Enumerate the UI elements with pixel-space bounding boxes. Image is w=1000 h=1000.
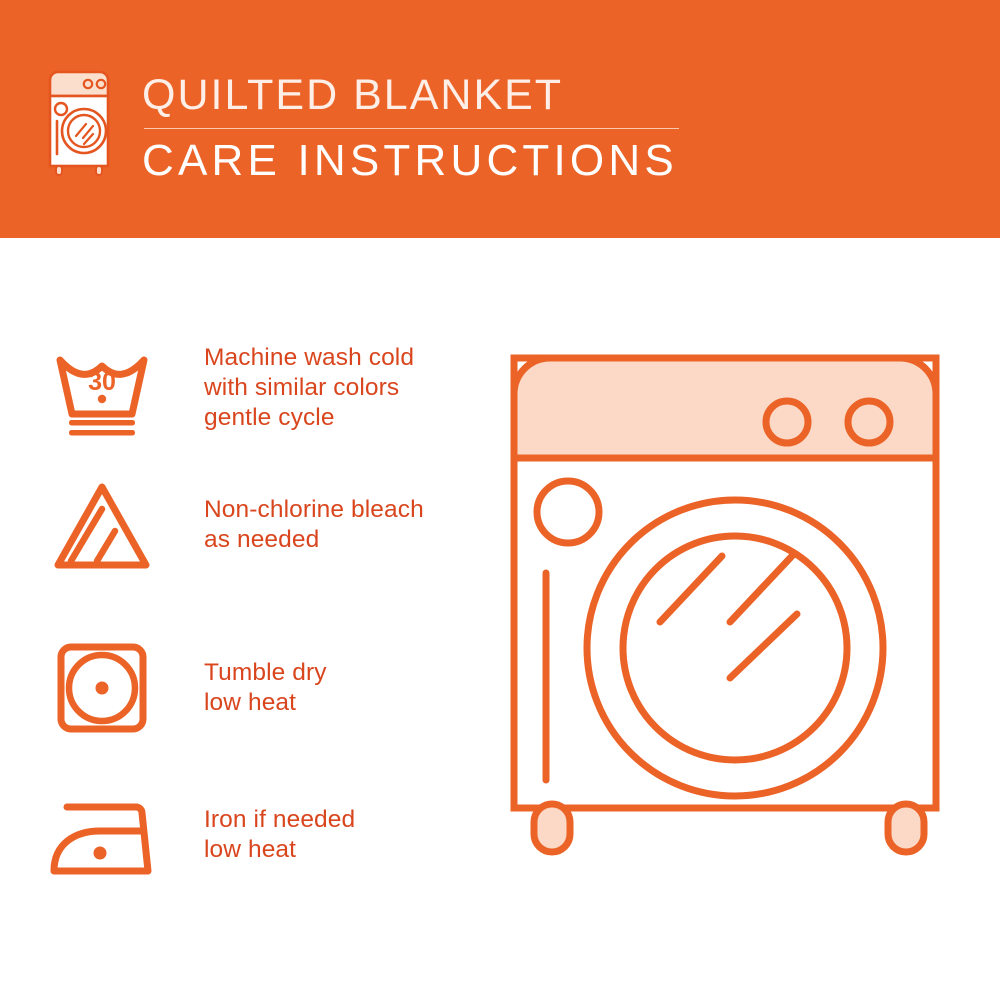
page-title-primary: QUILTED BLANKET: [142, 70, 702, 120]
care-text-block: Machine wash cold with similar colors ge…: [204, 343, 414, 433]
care-text-line: Iron if needed: [204, 805, 355, 835]
care-text-line: gentle cycle: [204, 403, 414, 433]
wash-tub-30-gentle-icon: 30: [42, 336, 162, 440]
washing-machine-icon: [46, 68, 112, 176]
care-text-line: with similar colors: [204, 373, 414, 403]
washer-leg: [888, 804, 924, 852]
care-instructions-page: QUILTED BLANKET CARE INSTRUCTIONS 30 Mac…: [0, 0, 1000, 1000]
care-text-line: as needed: [204, 525, 424, 555]
washer-leg: [534, 804, 570, 852]
page-title-secondary: CARE INSTRUCTIONS: [142, 135, 702, 187]
care-row: Non-chlorine bleach as needed: [0, 473, 480, 577]
wash-temperature-value: 30: [88, 368, 116, 396]
care-text-line: Tumble dry: [204, 658, 327, 688]
care-text-line: low heat: [204, 688, 327, 718]
care-text-line: low heat: [204, 835, 355, 865]
care-instructions-list: 30 Machine wash cold with similar colors…: [0, 238, 480, 1000]
non-chlorine-bleach-triangle-icon: [42, 473, 162, 577]
iron-low-heat-icon: [42, 783, 162, 887]
care-text-line: Non-chlorine bleach: [204, 495, 424, 525]
care-text-block: Tumble dry low heat: [204, 658, 327, 718]
care-text-block: Non-chlorine bleach as needed: [204, 495, 424, 555]
care-row: Tumble dry low heat: [0, 636, 480, 740]
tumble-dry-low-icon: [42, 636, 162, 740]
front-load-washing-machine-illustration: [490, 330, 960, 930]
page-header: QUILTED BLANKET CARE INSTRUCTIONS: [0, 0, 1000, 238]
care-row: Iron if needed low heat: [0, 783, 480, 887]
care-text-block: Iron if needed low heat: [204, 805, 355, 865]
title-divider: [144, 128, 679, 129]
care-row: 30 Machine wash cold with similar colors…: [0, 336, 480, 440]
care-text-line: Machine wash cold: [204, 343, 414, 373]
header-title-block: QUILTED BLANKET CARE INSTRUCTIONS: [142, 70, 702, 187]
